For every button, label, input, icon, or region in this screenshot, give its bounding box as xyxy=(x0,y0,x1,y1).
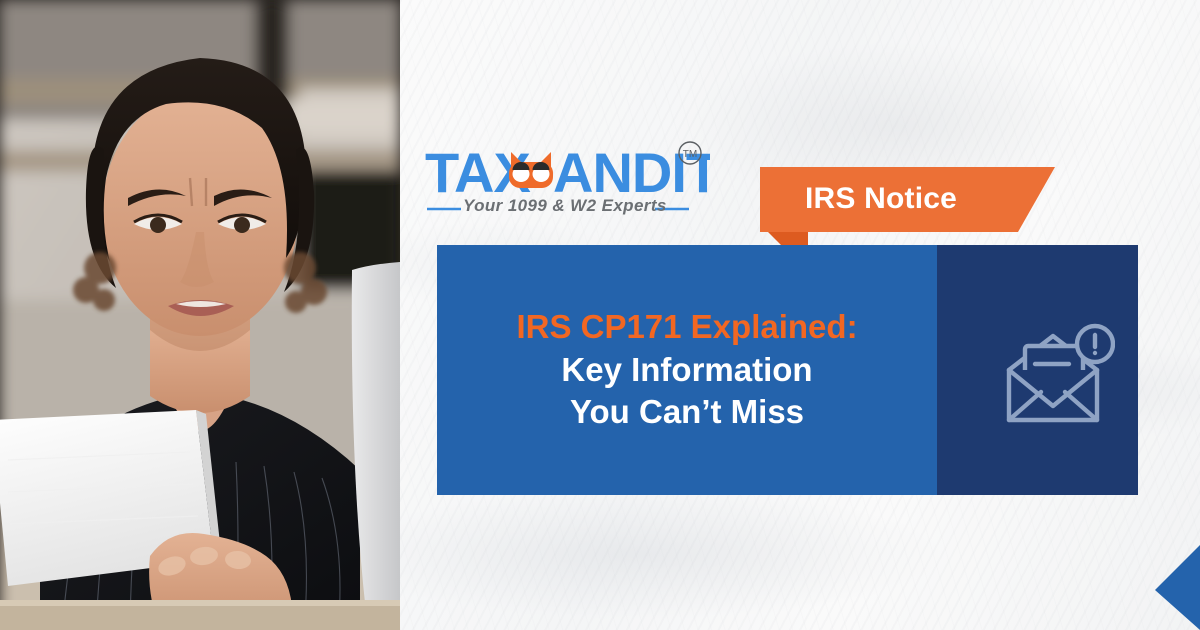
hero-photo xyxy=(0,0,400,630)
headline-line-3: You Can’t Miss xyxy=(570,391,804,434)
headline-line-2: Key Information xyxy=(561,349,812,392)
banner-canvas: TAX ANDITS TM Your 1099 & W2 Exper xyxy=(0,0,1200,630)
ribbon-label: IRS Notice xyxy=(805,182,957,216)
corner-triangle-wedge xyxy=(1155,545,1200,630)
headline-line-1: IRS CP171 Explained: xyxy=(516,306,857,349)
logo-tagline: Your 1099 & W2 Experts xyxy=(463,196,667,216)
svg-text:TM: TM xyxy=(683,149,697,160)
bandit-mask-icon xyxy=(509,152,553,188)
headline-block: IRS CP171 Explained: Key Information You… xyxy=(437,245,937,495)
open-envelope-alert-icon xyxy=(1003,322,1115,432)
